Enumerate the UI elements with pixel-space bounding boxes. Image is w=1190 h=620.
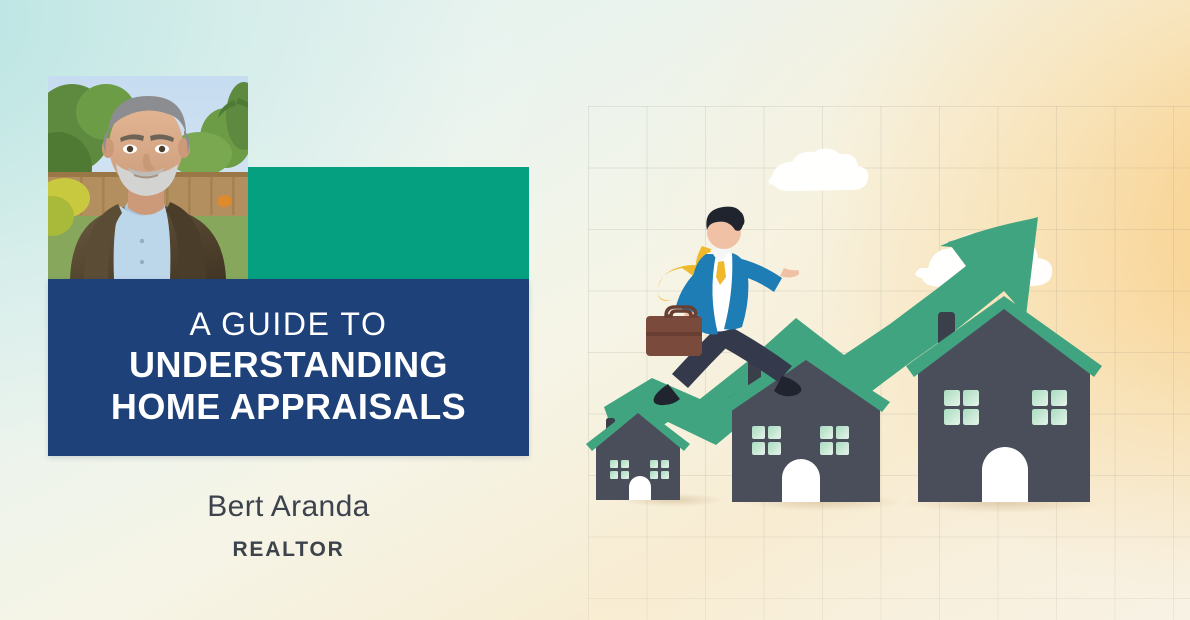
headline-line-3: HOME APPRAISALS: [111, 386, 466, 428]
agent-name: Bert Aranda: [48, 488, 529, 526]
promo-banner: A GUIDE TO UNDERSTANDING HOME APPRAISALS…: [0, 0, 1190, 620]
headline-line-2: UNDERSTANDING: [129, 344, 448, 386]
agent-role: REALTOR: [48, 538, 529, 562]
real-estate-illustration: [560, 60, 1190, 620]
cloud-icon-left: [768, 148, 868, 191]
green-accent-block: [248, 167, 529, 279]
headline-line-1: A GUIDE TO: [190, 306, 388, 343]
running-businessman-icon: [646, 207, 801, 406]
agent-identity: Bert Aranda REALTOR: [48, 488, 529, 562]
headline: A GUIDE TO UNDERSTANDING HOME APPRAISALS: [48, 279, 529, 456]
agent-photo: [48, 76, 248, 279]
